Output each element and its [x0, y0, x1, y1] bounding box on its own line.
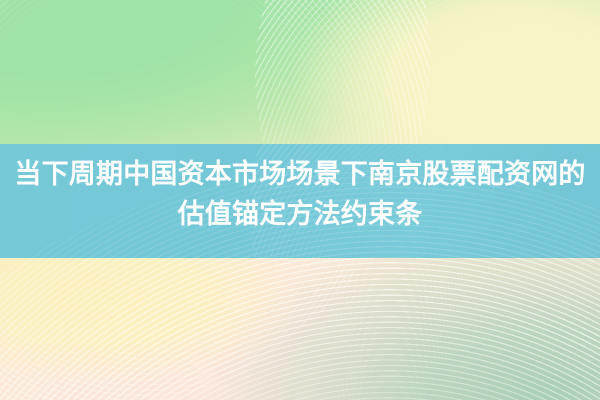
banner-title: 当下周期中国资本市场场景下南京股票配资网的估值锚定方法约束条 [8, 144, 592, 234]
title-banner-band: 当下周期中国资本市场场景下南京股票配资网的估值锚定方法约束条 [0, 144, 600, 258]
banner-image: 当下周期中国资本市场场景下南京股票配资网的估值锚定方法约束条 [0, 0, 600, 400]
